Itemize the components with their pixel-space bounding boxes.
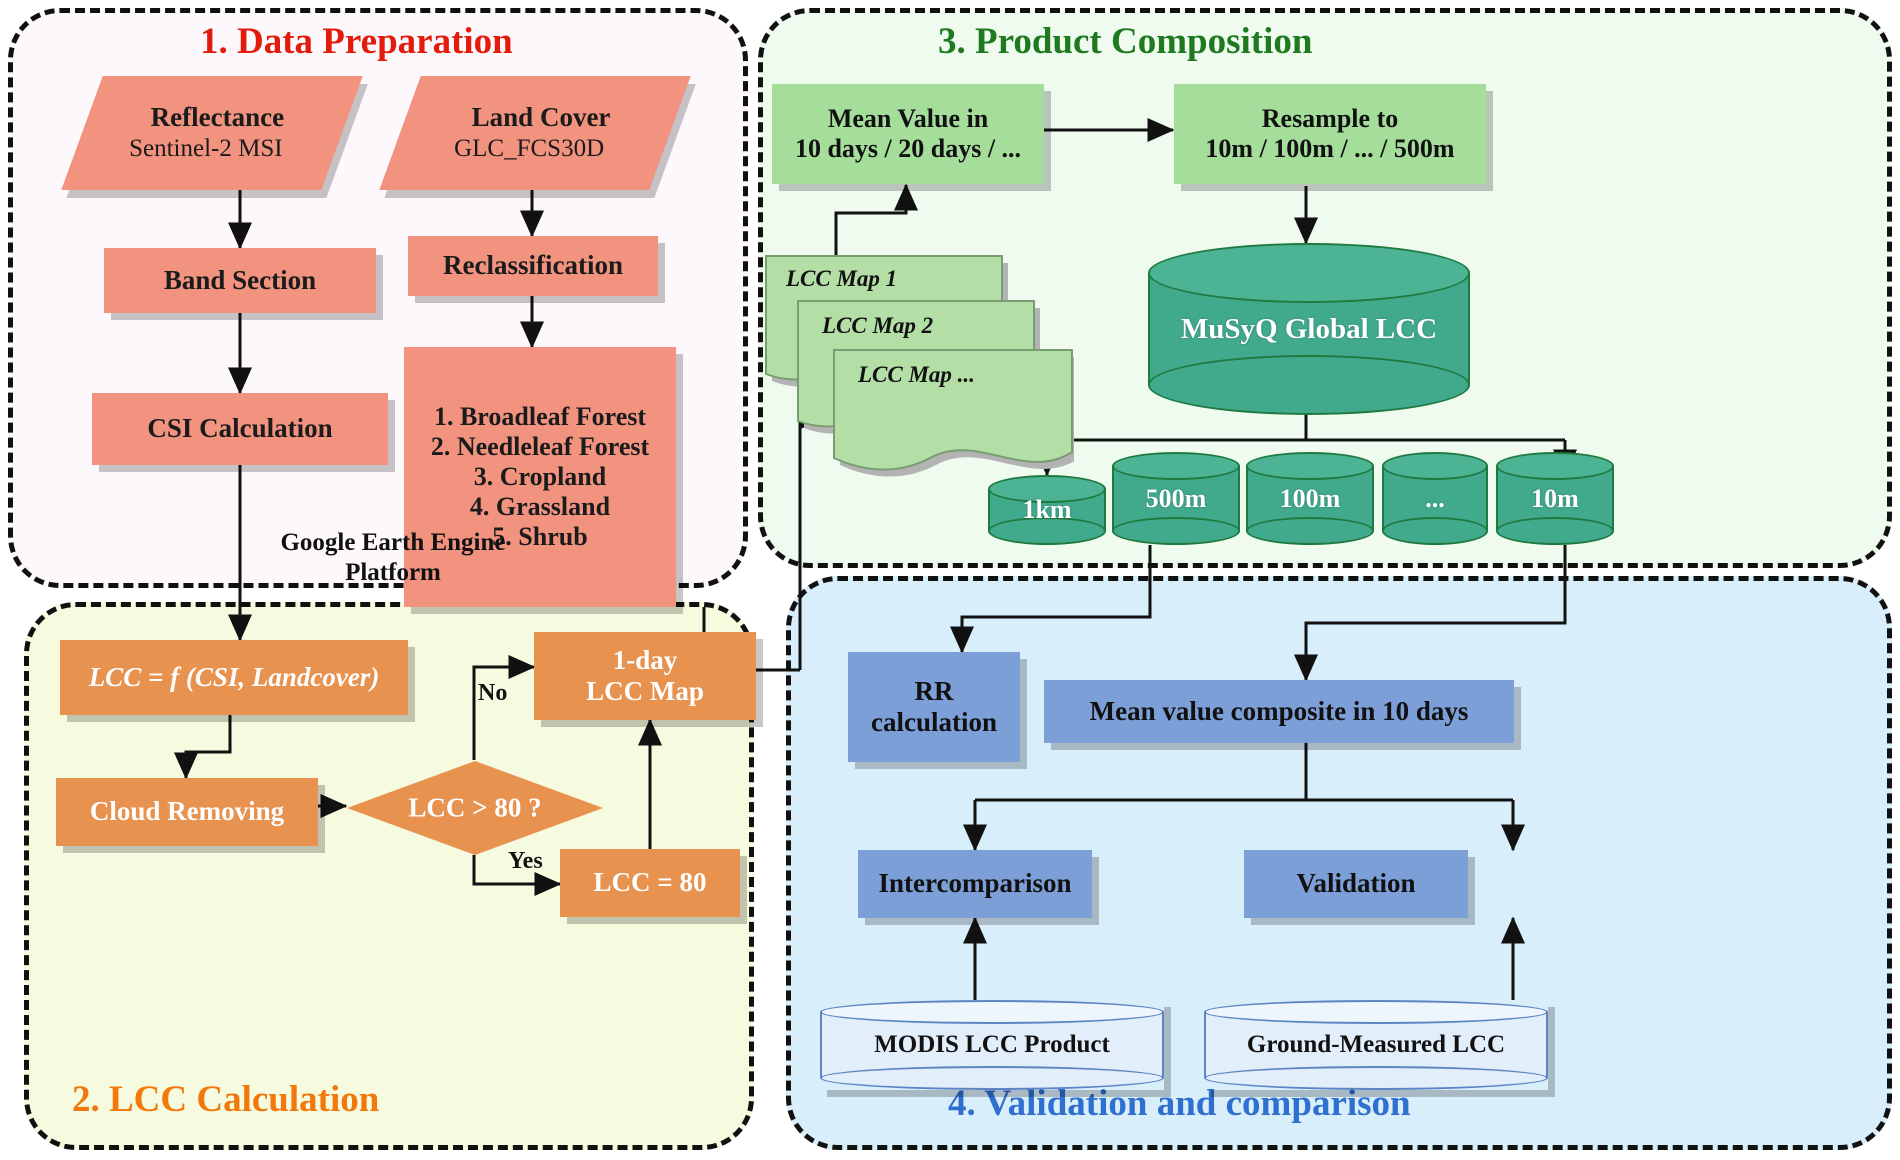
band-section-box: Band Section xyxy=(104,248,376,313)
mean-value-box: Mean Value in 10 days / 20 days / ... xyxy=(772,84,1044,184)
resolution-cylinder-100m: 100m xyxy=(1246,452,1374,545)
class-item: 1. Broadleaf Forest xyxy=(434,402,646,432)
csi-calculation-box: CSI Calculation xyxy=(92,393,388,465)
resample-box: Resample to 10m / 100m / ... / 500m xyxy=(1174,84,1486,184)
resolution-label: 10m xyxy=(1531,484,1579,514)
resolution-label: 1km xyxy=(1022,495,1071,525)
one-day-lcc-map-box: 1-day LCC Map xyxy=(534,632,756,720)
reflectance-subtitle: Sentinel-2 MSI xyxy=(129,134,282,165)
lcc-map-3: LCC Map ... xyxy=(826,340,1074,480)
decision-label: LCC > 80 ? xyxy=(346,793,604,824)
lcc-map-1-label: LCC Map 1 xyxy=(786,266,897,292)
landcover-parallelogram: Land Cover GLC_FCS30D xyxy=(400,76,670,190)
edge-label-no: No xyxy=(478,680,507,707)
landcover-subtitle: GLC_FCS30D xyxy=(454,134,604,165)
resolution-cylinder-ellipsis: ... xyxy=(1382,452,1488,545)
panel2-title: 2. LCC Calculation xyxy=(72,1078,379,1121)
reclassification-box: Reclassification xyxy=(408,236,658,296)
edge-label-yes: Yes xyxy=(508,848,543,875)
class-item: 2. Needleleaf Forest xyxy=(431,432,649,462)
modis-label: MODIS LCC Product xyxy=(874,1031,1110,1059)
cloud-removing-box: Cloud Removing xyxy=(56,778,318,846)
modis-lcc-product-cylinder: MODIS LCC Product xyxy=(820,1000,1164,1090)
resolution-label: 100m xyxy=(1280,484,1341,514)
musyq-global-lcc-cylinder: MuSyQ Global LCC xyxy=(1148,243,1470,415)
resolution-cylinder-500m: 500m xyxy=(1112,452,1240,545)
landcover-title: Land Cover xyxy=(471,101,610,134)
lcc-equals-80-box: LCC = 80 xyxy=(560,849,740,917)
class-item: 4. Grassland xyxy=(470,492,610,522)
lcc-map-3-label: LCC Map ... xyxy=(858,362,975,388)
musyq-label: MuSyQ Global LCC xyxy=(1181,313,1437,346)
validation-box: Validation xyxy=(1244,850,1468,918)
reflectance-title: Reflectance xyxy=(151,101,284,134)
resolution-label: ... xyxy=(1425,484,1445,514)
gee-platform-label: Google Earth Engine Platform xyxy=(248,528,538,588)
resolution-label: 500m xyxy=(1146,484,1207,514)
ground-label: Ground-Measured LCC xyxy=(1247,1031,1505,1059)
panel3-title: 3. Product Composition xyxy=(938,20,1312,63)
mean-value-composite-box: Mean value composite in 10 days xyxy=(1044,680,1514,743)
panel1-title: 1. Data Preparation xyxy=(200,20,513,63)
intercomparison-box: Intercomparison xyxy=(858,850,1092,918)
lcc-map-2-label: LCC Map 2 xyxy=(822,313,933,339)
resolution-cylinder-10m: 10m xyxy=(1496,452,1614,545)
flowchart-diagram: 1. Data Preparation 2. LCC Calculation 3… xyxy=(0,0,1900,1160)
class-item: 3. Cropland xyxy=(474,462,606,492)
lcc-threshold-decision: LCC > 80 ? xyxy=(346,760,604,856)
lcc-formula-box: LCC = f (CSI, Landcover) xyxy=(60,640,408,715)
resolution-cylinder-1km: 1km xyxy=(988,475,1106,545)
ground-measured-lcc-cylinder: Ground-Measured LCC xyxy=(1204,1000,1548,1090)
reflectance-parallelogram: Reflectance Sentinel-2 MSI xyxy=(82,76,342,190)
rr-calculation-box: RR calculation xyxy=(848,652,1020,762)
